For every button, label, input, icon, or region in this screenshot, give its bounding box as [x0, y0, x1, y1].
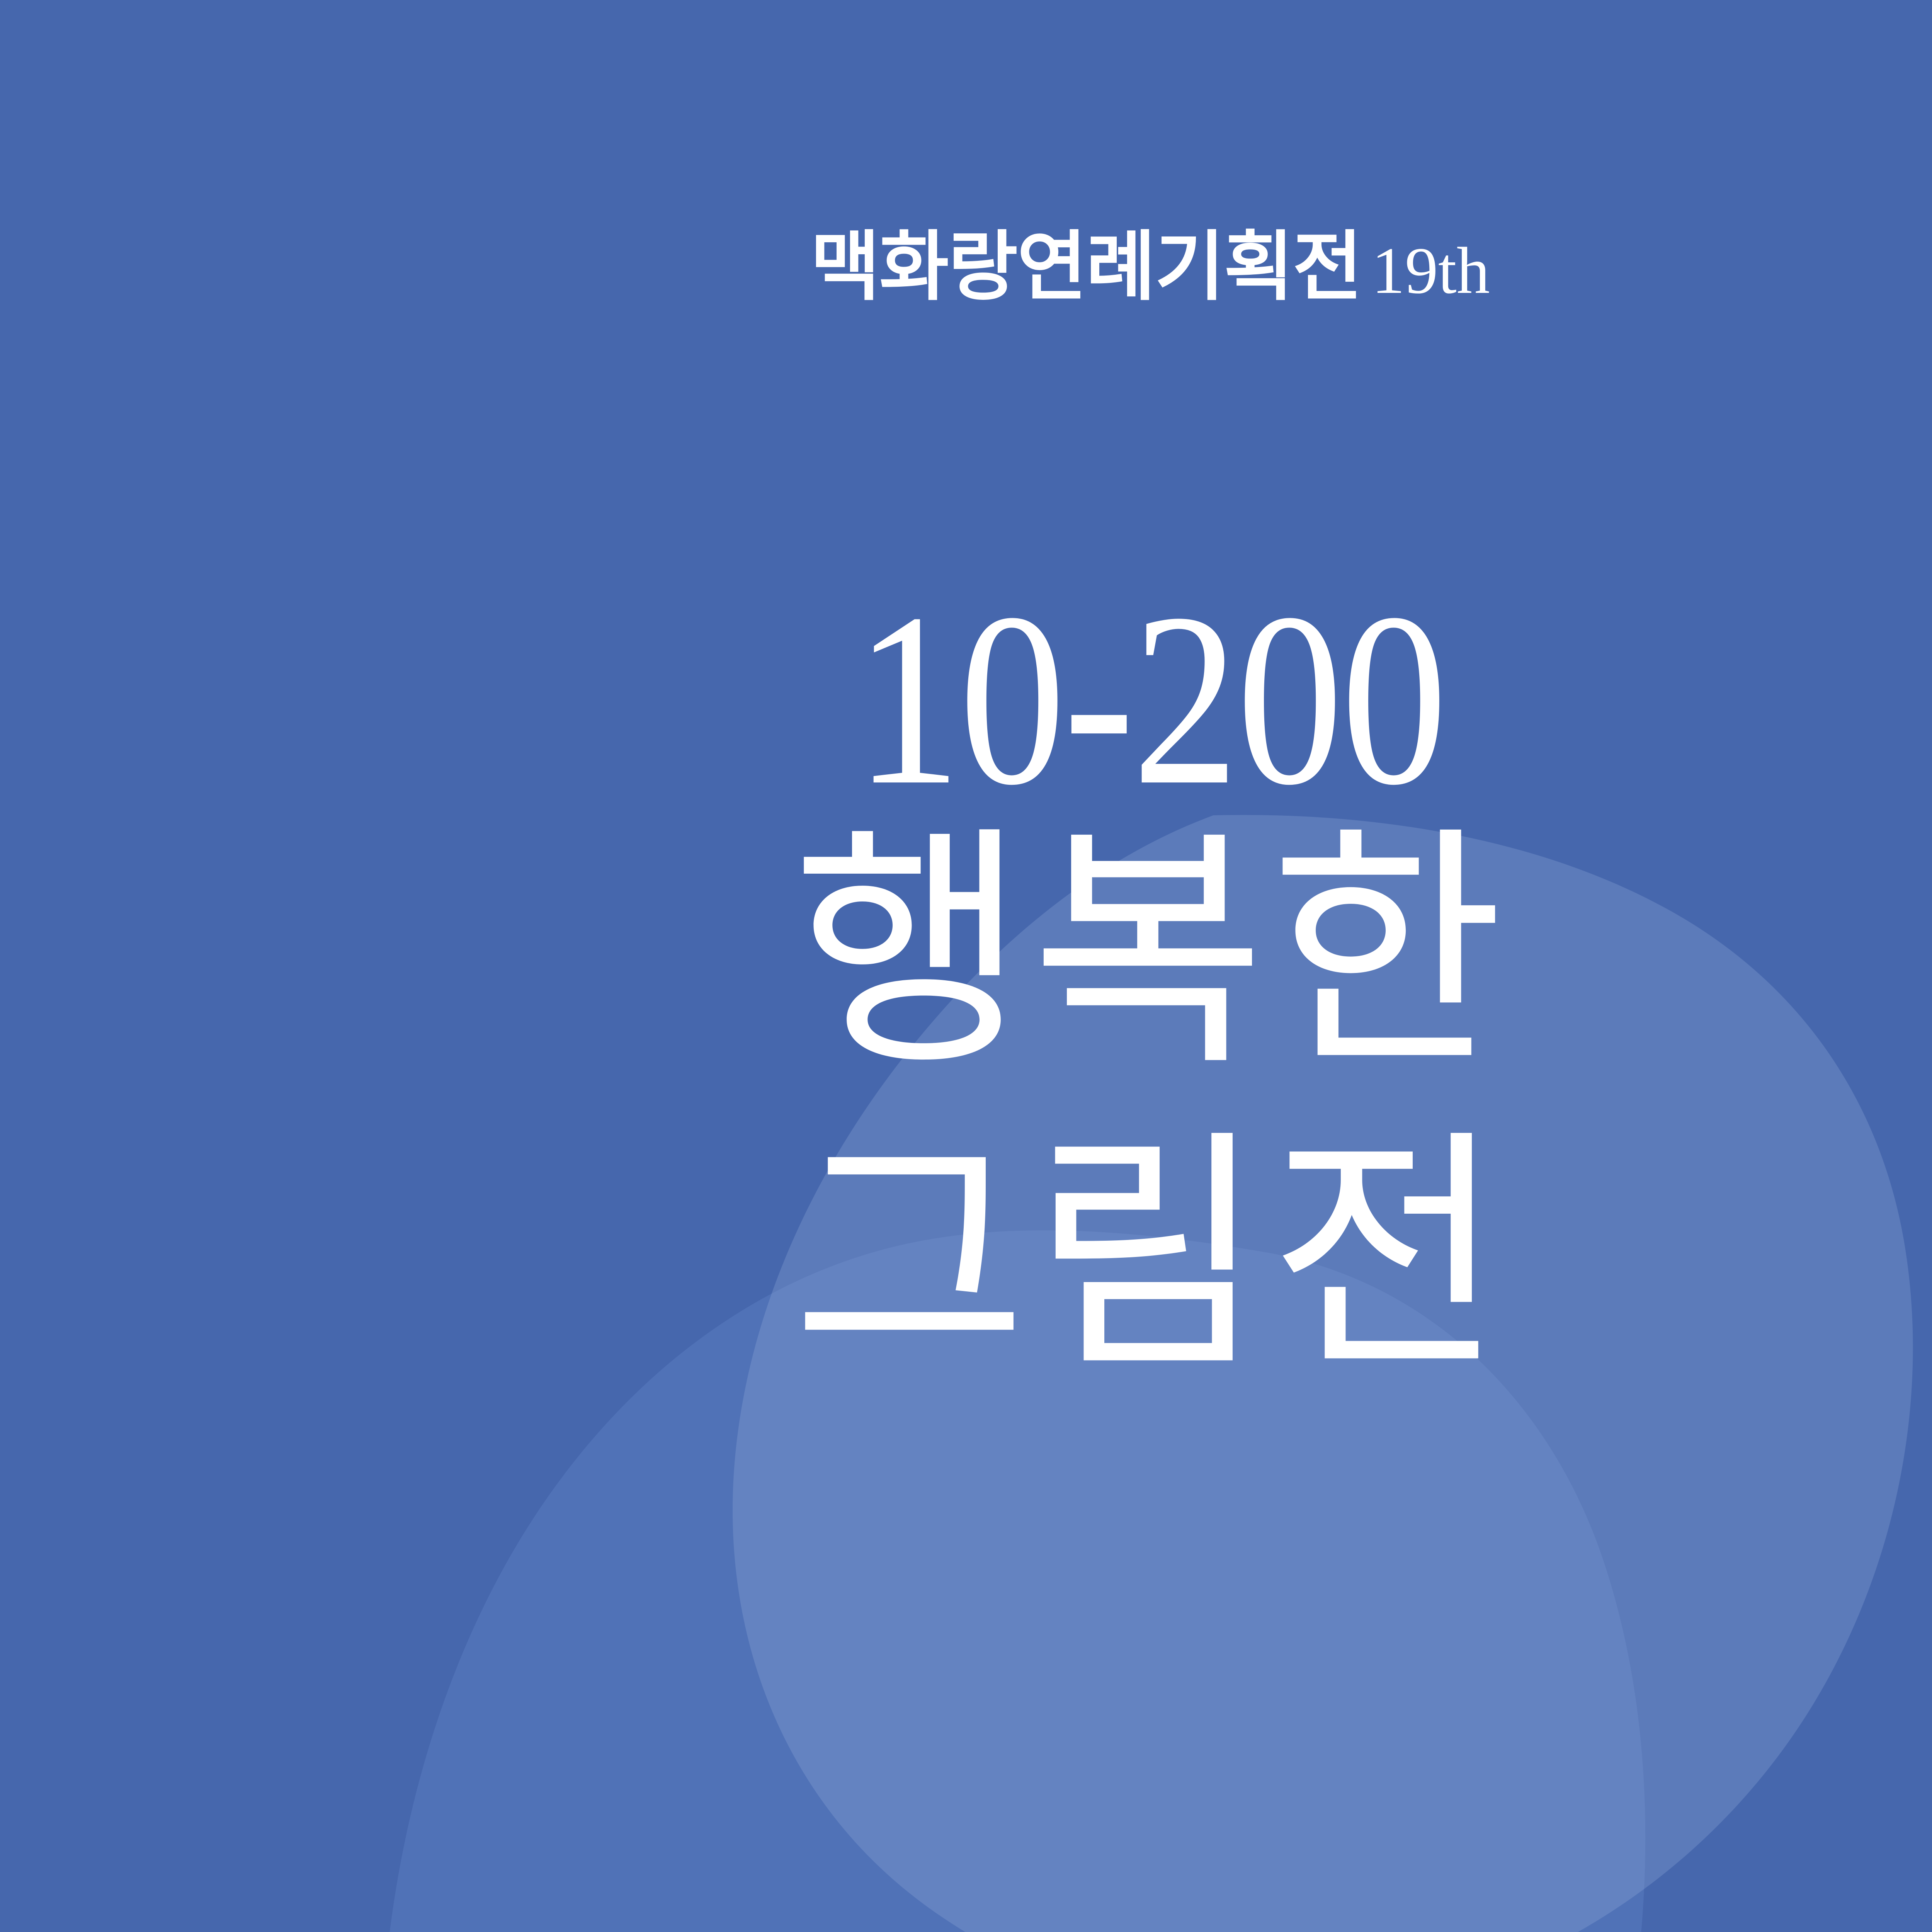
- gallery-series-label: 맥화랑연례기획전: [810, 226, 1362, 310]
- title-korean-line-1: 행복한: [0, 827, 1932, 1082]
- edition-label: 19th: [1362, 234, 1490, 308]
- title-numeric: 10-200: [161, 576, 1932, 823]
- exhibition-poster: 맥화랑연례기획전19th 10-200 행복한 그림전 2025. 07. 12…: [0, 0, 1932, 1932]
- gallery-series-header: 맥화랑연례기획전19th: [0, 228, 1932, 308]
- title-korean-line-2: 그림전: [0, 1130, 1932, 1385]
- poster-text-stack: 맥화랑연례기획전19th 10-200 행복한 그림전 2025. 07. 12…: [0, 0, 1932, 1932]
